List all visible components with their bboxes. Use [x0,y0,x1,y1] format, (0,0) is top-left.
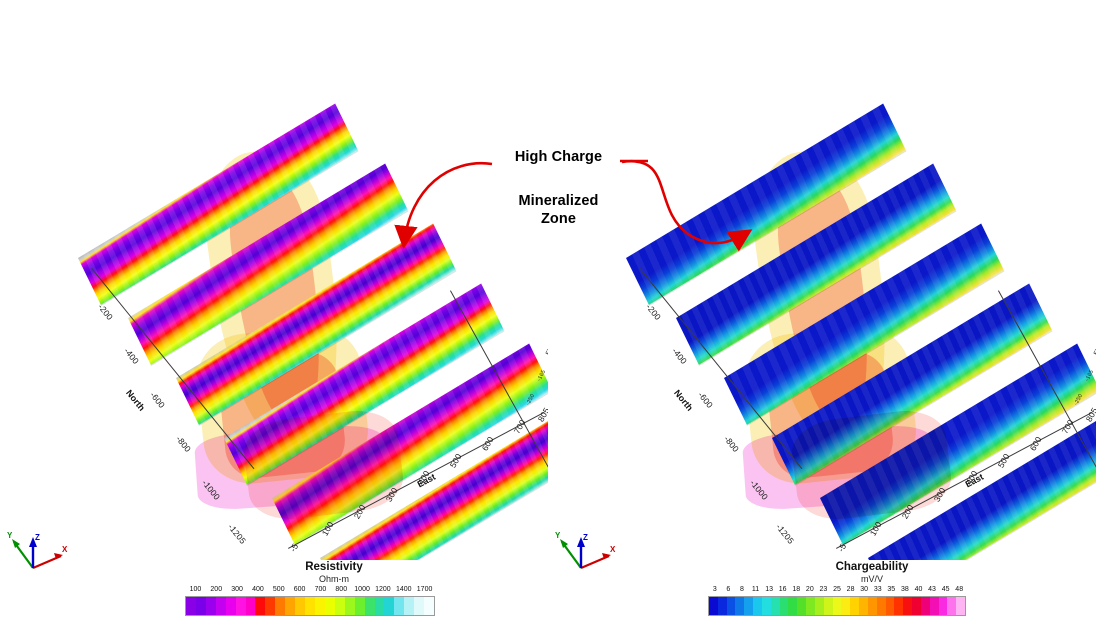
axis-north-tick: -200 [644,302,663,322]
colorbar-segment [365,597,375,615]
colorbar-segment [886,597,895,615]
svg-text:Y: Y [555,531,561,540]
colorbar-segment [285,597,295,615]
colorbar-segment [815,597,824,615]
colorbar-segment [939,597,948,615]
figure-canvas: North -200 -400 -600 -800 -1000 -1205 Ea… [0,0,1096,618]
colorbar-segment [824,597,833,615]
annotation-mineralized-line1: Mineralized [518,193,598,209]
colorbar-tick-label: 8 [740,586,744,593]
colorbar-segment [727,597,736,615]
colorbar-segment [859,597,868,615]
colorbar-tick-label: 1200 [375,586,391,593]
axis-north-tick: -800 [722,434,741,454]
colorbar-tick-label: 300 [231,586,243,593]
colorbar-segment [384,597,394,615]
colorbar-tick-row: 36811131618202325283033353840434548 [708,585,966,596]
colorbar-segment [414,597,424,615]
axis-east-tick: 600 [480,435,496,453]
colorbar-segment [206,597,216,615]
annotation-high-charge-text: High Charge [515,149,602,165]
colorbar-tick-label: 100 [190,586,202,593]
axis-north-tick: -400 [670,346,689,366]
colorbar-segment [894,597,903,615]
colorbar-segment [771,597,780,615]
colorbar-segment [709,597,718,615]
colorbar-segment [833,597,842,615]
axis-north-label: North [124,388,147,413]
colorbar-tick-label: 800 [335,586,347,593]
colorbar-segment [345,597,355,615]
svg-text:Y: Y [7,531,13,540]
colorbar-tick-label: 43 [928,586,936,593]
colorbar-segment [375,597,385,615]
colorbar-segment [315,597,325,615]
scene-resistivity: North -200 -400 -600 -800 -1000 -1205 Ea… [0,0,548,560]
svg-text:Z: Z [35,533,40,542]
annotation-mineralized-line2: Zone [541,211,576,227]
colorbar-segment [335,597,345,615]
colorbar-unit: Ohm-m [0,574,548,585]
colorbar-unit: mV/V [548,574,1096,585]
colorbar-tick-label: 1700 [417,586,433,593]
colorbar-tick-label: 400 [252,586,264,593]
colorbar-tick-label: 1000 [354,586,370,593]
axis-north-tick: -1000 [200,478,222,502]
svg-text:Z: Z [583,533,588,542]
colorbar-tick-row: 1002003004005006007008001000120014001700 [185,585,435,596]
colorbar-segment [744,597,753,615]
colorbar-segment [850,597,859,615]
colorbar-tick-label: 20 [806,586,814,593]
colorbar-tick-label: 13 [765,586,773,593]
axis-north-tick: -400 [122,346,141,366]
colorbar-tick-label: 25 [833,586,841,593]
colorbar-tick-label: 16 [779,586,787,593]
annotation-high-charge: High Charge [486,148,631,166]
colorbar-tick-label: 33 [874,586,882,593]
axis-east-tick: 500 [996,452,1012,470]
axis-north-tick: -600 [696,390,715,410]
colorbar-tick-label: 3 [713,586,717,593]
colorbar-segment [780,597,789,615]
colorbar-segment [930,597,939,615]
colorbar-segment [868,597,877,615]
colorbar-segment [394,597,404,615]
colorbar-segment [947,597,956,615]
axis-north-tick: -800 [174,434,193,454]
colorbar-segment [275,597,285,615]
colorbar-segment [196,597,206,615]
colorbar-tick-label: 500 [273,586,285,593]
colorbar-title: Resistivity [0,561,548,574]
colorbar-segment [305,597,315,615]
colorbar-tick-label: 23 [820,586,828,593]
axis-north-tick: -200 [96,302,115,322]
svg-text:X: X [610,545,616,554]
colorbar-tick-label: 48 [955,586,963,593]
colorbar-segment [753,597,762,615]
axis-east-tick: 600 [1028,435,1044,453]
axis-east-tick: 500 [448,452,464,470]
colorbar-segment [921,597,930,615]
colorbar-title: Chargeability [548,561,1096,574]
annotation-mineralized-zone: Mineralized Zone [486,192,631,228]
colorbar-gradient [185,596,435,616]
colorbar-segment [806,597,815,615]
colorbar-segment [216,597,226,615]
colorbar-segment [255,597,265,615]
colorbar-segment [788,597,797,615]
colorbar-gradient [708,596,966,616]
colorbar-tick-label: 35 [887,586,895,593]
colorbar-chargeability: Chargeability mV/V 368111316182023252830… [548,561,1096,616]
colorbar-segment [956,597,965,615]
colorbar-tick-label: 38 [901,586,909,593]
colorbar-segment [404,597,414,615]
axis-north-label: North [672,388,695,413]
colorbar-segment [265,597,275,615]
colorbar-segment [325,597,335,615]
colorbar-segment [295,597,305,615]
colorbar-segment [226,597,236,615]
colorbar-tick-label: 40 [915,586,923,593]
colorbar-segment [718,597,727,615]
colorbar-segment [424,597,434,615]
colorbar-segment [797,597,806,615]
colorbar-tick-label: 30 [860,586,868,593]
colorbar-segment [186,597,196,615]
axis-north-tick: -1000 [748,478,770,502]
colorbar-segment [355,597,365,615]
colorbar-segment [762,597,771,615]
colorbar-tick-label: 11 [752,586,759,593]
colorbar-segment [735,597,744,615]
axis-north-tick: -1205 [226,522,248,546]
panel-chargeability: North -200 -400 -600 -800 -1000 -1205 Ea… [548,0,1096,618]
colorbar-tick-label: 600 [294,586,306,593]
colorbar-tick-label: 1400 [396,586,412,593]
panel-resistivity: North -200 -400 -600 -800 -1000 -1205 Ea… [0,0,548,618]
colorbar-tick-label: 28 [847,586,855,593]
colorbar-tick-label: 200 [210,586,222,593]
colorbar-segment [903,597,912,615]
scene-chargeability: North -200 -400 -600 -800 -1000 -1205 Ea… [548,0,1096,560]
colorbar-segment [912,597,921,615]
colorbar-resistivity: Resistivity Ohm-m 1002003004005006007008… [0,561,548,616]
colorbar-segment [877,597,886,615]
colorbar-tick-label: 6 [726,586,730,593]
colorbar-tick-label: 18 [792,586,800,593]
colorbar-segment [841,597,850,615]
svg-text:X: X [62,545,68,554]
colorbar-segment [246,597,256,615]
colorbar-segment [236,597,246,615]
axis-north-tick: -600 [148,390,167,410]
axis-north-tick: -1205 [774,522,796,546]
colorbar-tick-label: 700 [315,586,327,593]
colorbar-tick-label: 45 [942,586,950,593]
